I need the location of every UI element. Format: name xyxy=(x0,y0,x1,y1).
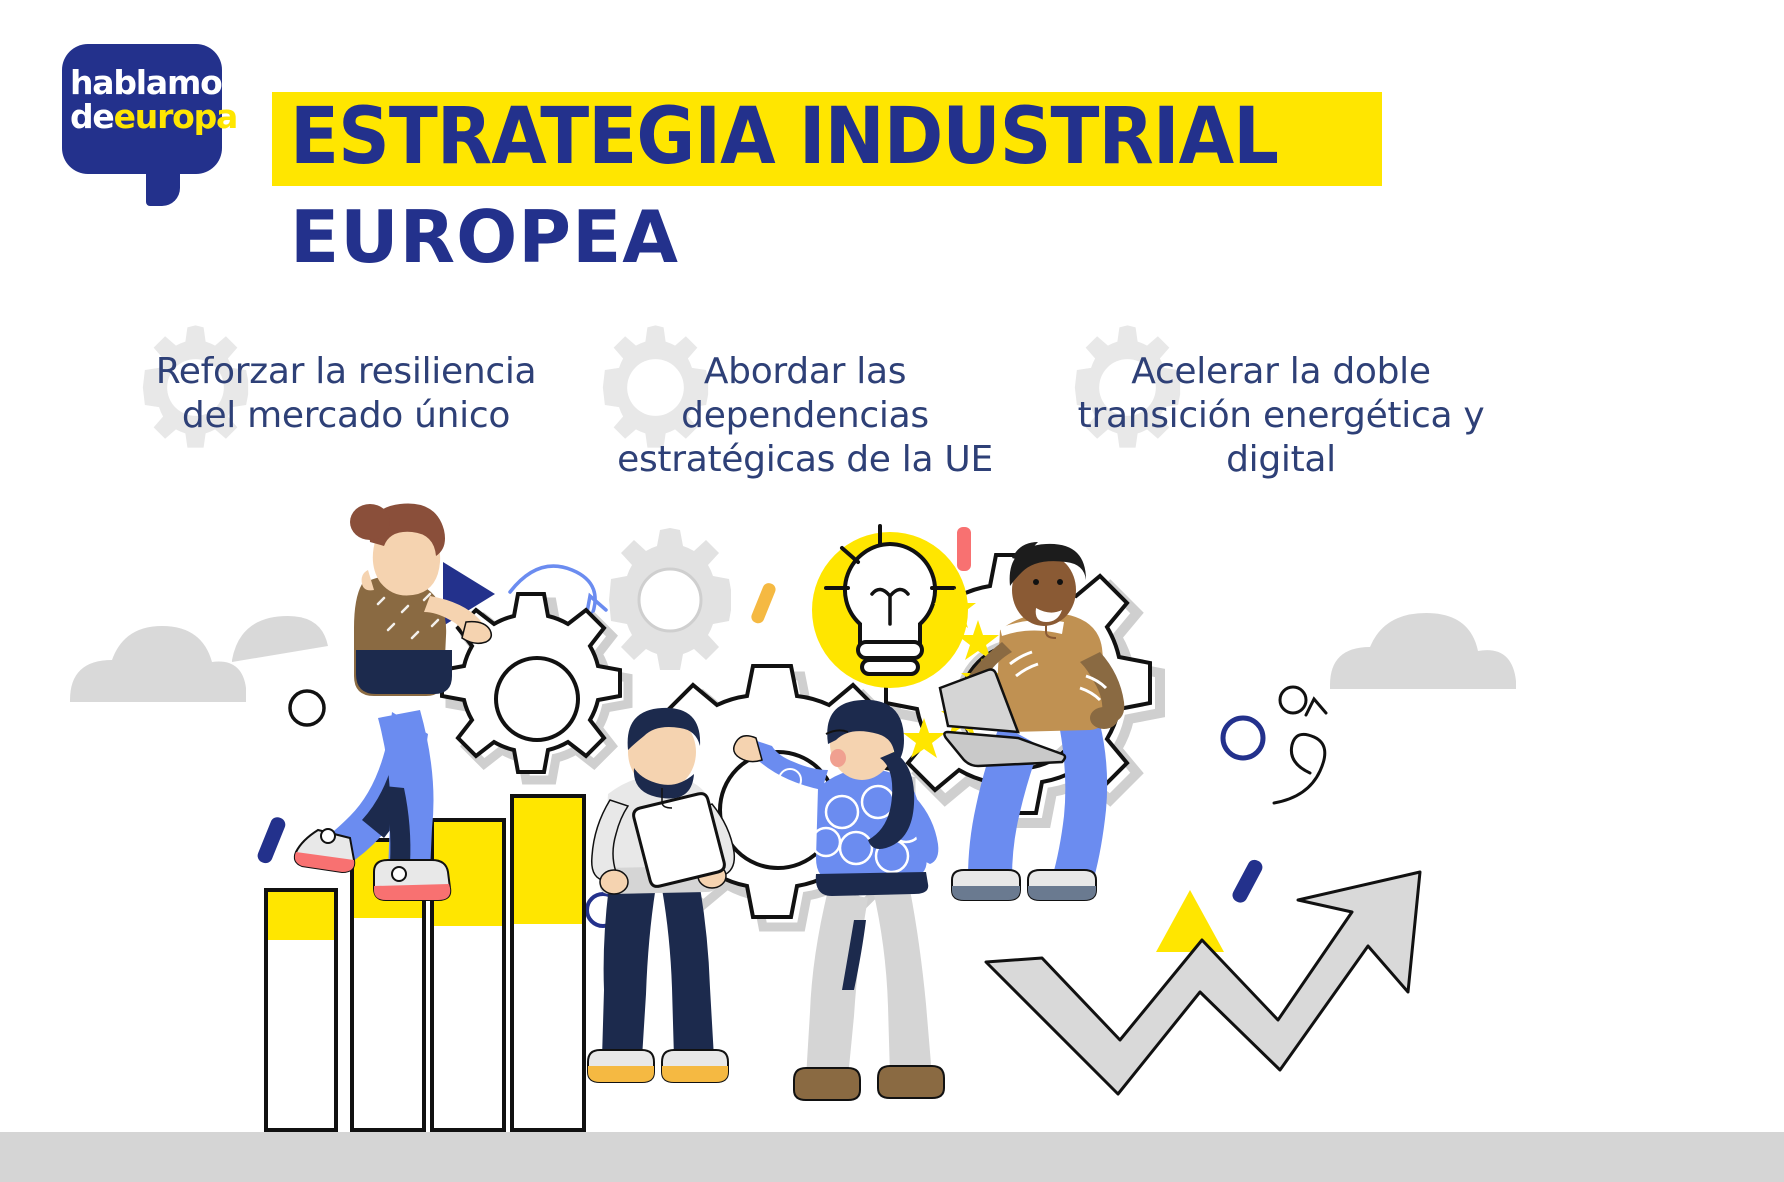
gear-small xyxy=(609,528,731,670)
circle-outline xyxy=(1223,718,1263,758)
logo-line-2: deeuropa xyxy=(70,99,222,135)
cloud-shape xyxy=(1330,613,1516,689)
logo[interactable]: hablamos deeuropa xyxy=(62,44,222,189)
title-line-1: ESTRATEGIA INDUSTRIAL xyxy=(290,98,1278,176)
chart-bar xyxy=(266,890,336,1130)
cloud-shape xyxy=(70,626,246,702)
circle-outline xyxy=(290,691,324,725)
triangle-shape xyxy=(1156,890,1224,952)
bullet-item-2[interactable]: Abordar las dependencias estratégicas de… xyxy=(568,312,1018,502)
logo-text: hablamos deeuropa xyxy=(62,66,222,135)
dash-shape xyxy=(957,527,971,571)
bullet-list: Reforzar la resiliencia del mercado únic… xyxy=(0,312,1784,502)
logo-europa: europa xyxy=(114,97,238,136)
bullet-item-3[interactable]: Acelerar la doble transición energética … xyxy=(1040,312,1510,502)
bullet-item-1[interactable]: Reforzar la resiliencia del mercado únic… xyxy=(118,312,538,502)
circle-outline xyxy=(1280,687,1306,713)
growth-arrow-icon xyxy=(986,872,1420,1094)
illustration-svg xyxy=(0,500,1784,1182)
title-line-2: EUROPEA xyxy=(290,200,1472,274)
illustration xyxy=(0,500,1784,1182)
dash-shape xyxy=(750,581,778,625)
cloud-shape xyxy=(232,616,328,662)
bullet-label-1: Reforzar la resiliencia del mercado únic… xyxy=(118,350,538,438)
curved-arrow-icon xyxy=(1274,699,1326,803)
title-highlight-band: ESTRATEGIA INDUSTRIAL xyxy=(272,92,1382,186)
infographic-canvas: hablamos deeuropa ESTRATEGIA INDUSTRIAL … xyxy=(0,0,1784,1182)
dash-shape xyxy=(1230,857,1265,905)
page-title: ESTRATEGIA INDUSTRIAL EUROPEA xyxy=(272,92,1472,274)
dash-shape xyxy=(256,815,288,865)
logo-de: de xyxy=(70,97,114,136)
bullet-label-3: Acelerar la doble transición energética … xyxy=(1040,350,1510,482)
bullet-label-2: Abordar las dependencias estratégicas de… xyxy=(568,350,1018,482)
chart-bar xyxy=(512,796,584,1130)
logo-line-1: hablamos xyxy=(70,66,222,99)
